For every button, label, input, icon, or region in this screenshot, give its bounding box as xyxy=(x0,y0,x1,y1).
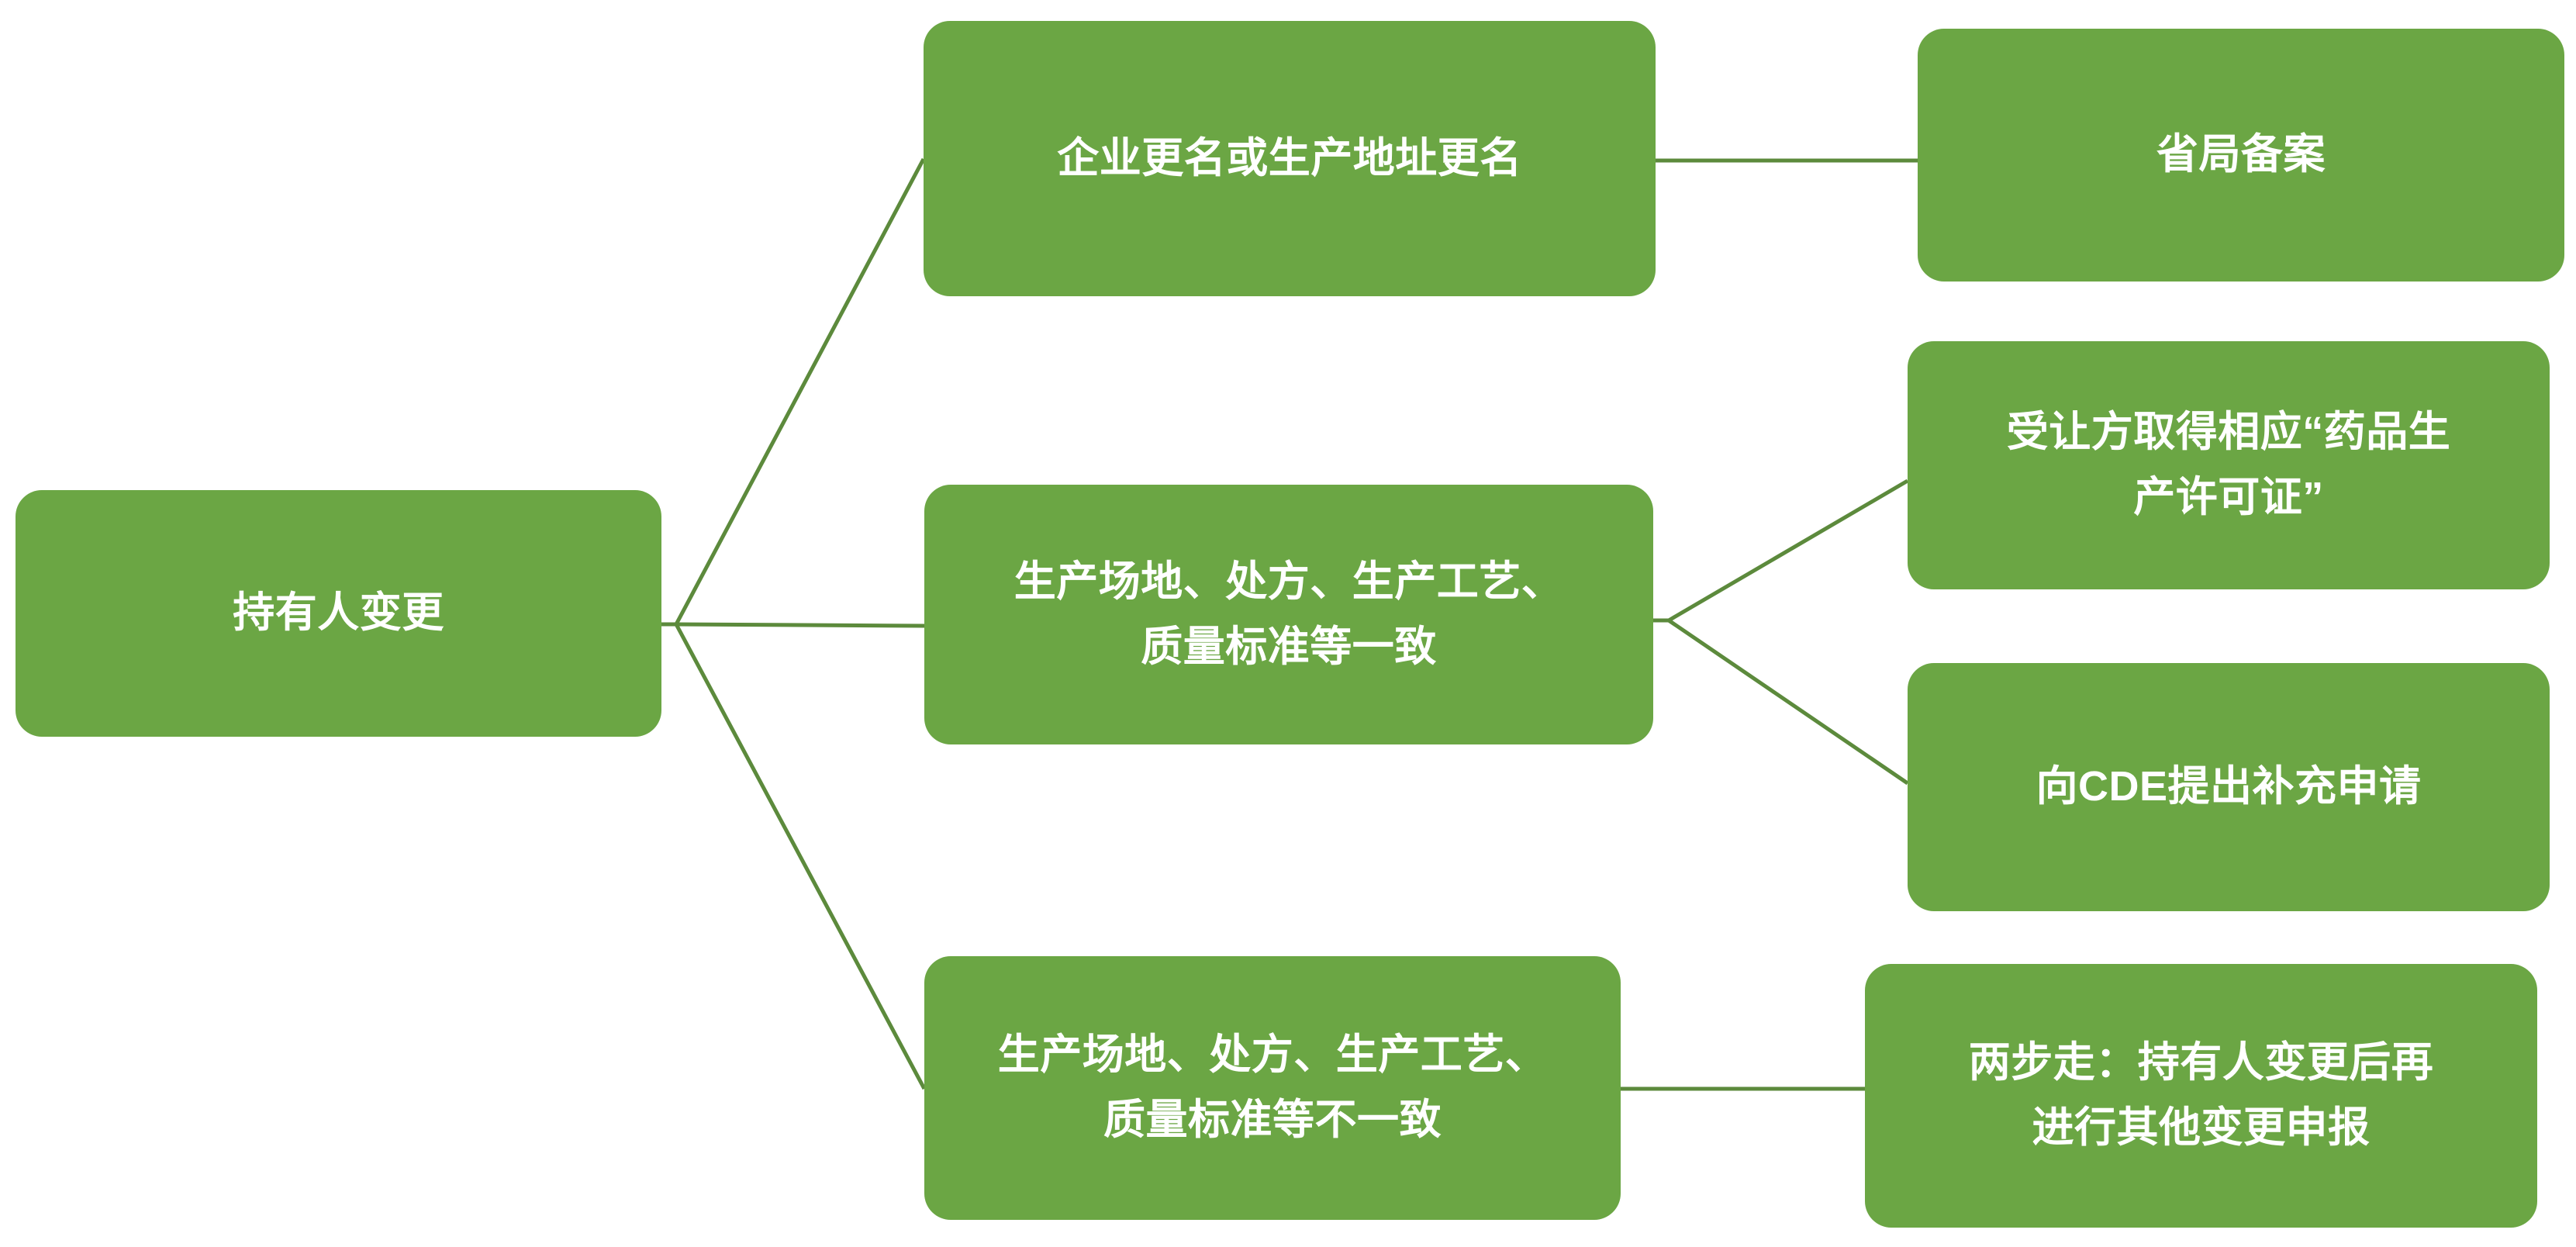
node-company-rename-label: 企业更名或生产地址更名 xyxy=(941,126,1638,192)
node-company-rename[interactable]: 企业更名或生产地址更名 xyxy=(924,21,1656,296)
node-transferee-license[interactable]: 受让方取得相应“药品生 产许可证” xyxy=(1908,341,2550,589)
node-consistent-conditions-label: 生产场地、处方、生产工艺、 质量标准等一致 xyxy=(941,550,1636,679)
node-cde-supplementary-application-label: 向CDE提出补充申请 xyxy=(1925,755,2533,820)
node-provincial-filing-label: 省局备案 xyxy=(1935,123,2547,188)
node-provincial-filing[interactable]: 省局备案 xyxy=(1918,29,2564,282)
edge-root-to-rename xyxy=(676,159,924,624)
node-two-step-approach[interactable]: 两步走：持有人变更后再 进行其他变更申报 xyxy=(1865,964,2537,1228)
node-cde-supplementary-application[interactable]: 向CDE提出补充申请 xyxy=(1908,663,2550,911)
node-two-step-approach-label: 两步走：持有人变更后再 进行其他变更申报 xyxy=(1882,1031,2520,1160)
edge-root-to-consistent xyxy=(676,624,924,626)
mindmap-diagram: 持有人变更 企业更名或生产地址更名 生产场地、处方、生产工艺、 质量标准等一致 … xyxy=(0,0,2576,1247)
edge-consistent-to-license xyxy=(1669,481,1908,620)
edge-consistent-to-cde xyxy=(1669,620,1908,783)
node-inconsistent-conditions[interactable]: 生产场地、处方、生产工艺、 质量标准等不一致 xyxy=(924,956,1621,1220)
node-root[interactable]: 持有人变更 xyxy=(16,490,661,737)
node-inconsistent-conditions-label: 生产场地、处方、生产工艺、 质量标准等不一致 xyxy=(941,1023,1604,1152)
node-transferee-license-label: 受让方取得相应“药品生 产许可证” xyxy=(1925,400,2533,530)
edge-root-to-inconsistent xyxy=(676,624,924,1089)
node-root-label: 持有人变更 xyxy=(33,581,644,646)
node-consistent-conditions[interactable]: 生产场地、处方、生产工艺、 质量标准等一致 xyxy=(924,485,1653,744)
